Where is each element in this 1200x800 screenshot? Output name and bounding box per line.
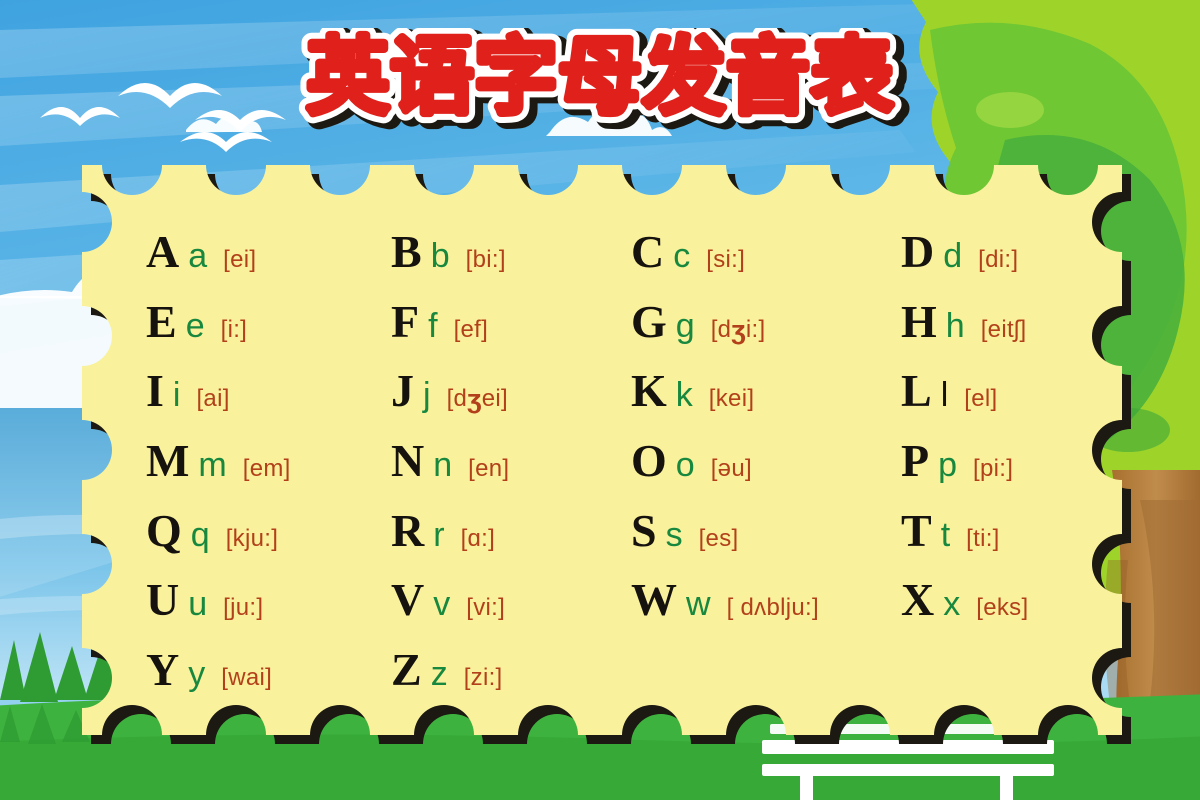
phonetic-text: [vi:] <box>466 596 505 620</box>
letter-entry-a[interactable]: A a [ei] <box>146 229 391 275</box>
letter-entry-m[interactable]: M m [em] <box>146 438 391 484</box>
lowercase-letter: q <box>191 518 210 552</box>
letter-entry-d[interactable]: D d [di:] <box>901 229 1186 275</box>
phonetic-text: [dʒi:] <box>711 317 766 344</box>
phonetic-text: [ei] <box>223 248 256 272</box>
uppercase-letter: P <box>901 438 929 484</box>
phonetic-text: [wai] <box>221 666 272 690</box>
uppercase-letter: T <box>901 508 932 554</box>
letter-entry-t[interactable]: T t [ti:] <box>901 508 1186 554</box>
uppercase-letter: B <box>391 229 422 275</box>
uppercase-letter: C <box>631 229 664 275</box>
uppercase-letter: A <box>146 229 179 275</box>
uppercase-letter: D <box>901 229 934 275</box>
letter-entry-h[interactable]: H h [eitʃ] <box>901 299 1186 345</box>
lowercase-letter: v <box>433 587 450 621</box>
lowercase-letter: d <box>943 239 962 273</box>
phonetic-text: [ɑ:] <box>461 527 496 551</box>
letter-entry-u[interactable]: U u [ju:] <box>146 577 391 623</box>
phonetic-text: [bi:] <box>466 248 506 272</box>
uppercase-letter: Y <box>146 647 179 693</box>
lowercase-letter: b <box>431 239 450 273</box>
lowercase-letter: a <box>188 239 207 273</box>
lowercase-letter: s <box>666 518 683 552</box>
uppercase-letter: X <box>901 577 934 623</box>
lowercase-letter: t <box>941 518 950 552</box>
letter-entry-n[interactable]: N n [en] <box>391 438 631 484</box>
phonetic-text: [i:] <box>221 318 248 342</box>
phonetic-text: [di:] <box>978 248 1018 272</box>
letter-entry-s[interactable]: S s [es] <box>631 508 901 554</box>
letter-entry-w[interactable]: W w [ dʌblju:] <box>631 577 901 623</box>
uppercase-letter: W <box>631 577 677 623</box>
phonetic-text: [əu] <box>711 457 752 481</box>
letter-entry-g[interactable]: G g [dʒi:] <box>631 299 901 345</box>
uppercase-letter: J <box>391 368 414 414</box>
uppercase-letter: U <box>146 577 179 623</box>
letter-entry-x[interactable]: X x [eks] <box>901 577 1186 623</box>
lowercase-letter: y <box>188 657 205 691</box>
letter-entry-q[interactable]: Q q [kju:] <box>146 508 391 554</box>
lowercase-letter: i <box>173 378 181 412</box>
letter-entry-o[interactable]: O o [əu] <box>631 438 901 484</box>
lowercase-letter: w <box>686 587 711 621</box>
phonetic-text: [dʒei] <box>447 386 508 413</box>
lowercase-letter: n <box>433 448 452 482</box>
letter-entry-f[interactable]: F f [ef] <box>391 299 631 345</box>
lowercase-letter: k <box>676 378 693 412</box>
lowercase-letter: l <box>941 378 949 412</box>
letter-entry-y[interactable]: Y y [wai] <box>146 647 391 693</box>
uppercase-letter: E <box>146 299 177 345</box>
uppercase-letter: M <box>146 438 189 484</box>
phonetic-text: [ef] <box>454 318 489 342</box>
phonetic-text: [em] <box>243 457 291 481</box>
letter-entry-l[interactable]: L l [el] <box>901 368 1186 414</box>
phonetic-text: [en] <box>468 457 509 481</box>
lowercase-letter: z <box>431 657 448 691</box>
phonetic-text: [ju:] <box>223 596 263 620</box>
phonetic-text: [ dʌblju:] <box>727 596 819 620</box>
uppercase-letter: H <box>901 299 937 345</box>
letter-entry-i[interactable]: I i [ai] <box>146 368 391 414</box>
uppercase-letter: N <box>391 438 424 484</box>
phonetic-text: [eitʃ] <box>981 318 1027 342</box>
lowercase-letter: e <box>186 309 205 343</box>
lowercase-letter: m <box>198 448 226 482</box>
lowercase-letter: u <box>188 587 207 621</box>
lowercase-letter: j <box>423 378 431 412</box>
uppercase-letter: R <box>391 508 424 554</box>
letter-entry-e[interactable]: E e [i:] <box>146 299 391 345</box>
phonetic-text: [si:] <box>706 248 745 272</box>
letter-entry-k[interactable]: K k [kei] <box>631 368 901 414</box>
letter-entry-p[interactable]: P p [pi:] <box>901 438 1186 484</box>
lowercase-letter: r <box>433 518 444 552</box>
lowercase-letter: p <box>938 448 957 482</box>
phonetic-text: [kju:] <box>226 527 278 551</box>
phonetic-text: [kei] <box>709 387 755 411</box>
lowercase-letter: g <box>676 309 695 343</box>
lowercase-letter: f <box>428 309 437 343</box>
phonetic-text: [pi:] <box>973 457 1013 481</box>
phonetic-text: [eks] <box>976 596 1028 620</box>
uppercase-letter: L <box>901 368 932 414</box>
phonetic-text: [el] <box>964 387 997 411</box>
uppercase-letter: V <box>391 577 424 623</box>
uppercase-letter: G <box>631 299 667 345</box>
lowercase-letter: c <box>673 239 690 273</box>
uppercase-letter: K <box>631 368 667 414</box>
letter-entry-v[interactable]: V v [vi:] <box>391 577 631 623</box>
alphabet-table: A a [ei] B b [bi:] C c [si:] D d [di:] E… <box>82 165 1122 735</box>
phonetic-text: [zi:] <box>464 666 503 690</box>
letter-entry-r[interactable]: R r [ɑ:] <box>391 508 631 554</box>
letter-entry-j[interactable]: J j [dʒei] <box>391 368 631 414</box>
letter-entry-c[interactable]: C c [si:] <box>631 229 901 275</box>
uppercase-letter: Q <box>146 508 182 554</box>
uppercase-letter: F <box>391 299 419 345</box>
lowercase-letter: x <box>943 587 960 621</box>
lowercase-letter: h <box>946 309 965 343</box>
phonetic-text: [ti:] <box>966 527 1000 551</box>
letter-entry-z[interactable]: Z z [zi:] <box>391 647 631 693</box>
uppercase-letter: O <box>631 438 667 484</box>
letter-entry-b[interactable]: B b [bi:] <box>391 229 631 275</box>
lowercase-letter: o <box>676 448 695 482</box>
uppercase-letter: I <box>146 368 164 414</box>
phonetic-text: [es] <box>699 527 739 551</box>
uppercase-letter: S <box>631 508 657 554</box>
phonetic-text: [ai] <box>196 387 229 411</box>
uppercase-letter: Z <box>391 647 422 693</box>
